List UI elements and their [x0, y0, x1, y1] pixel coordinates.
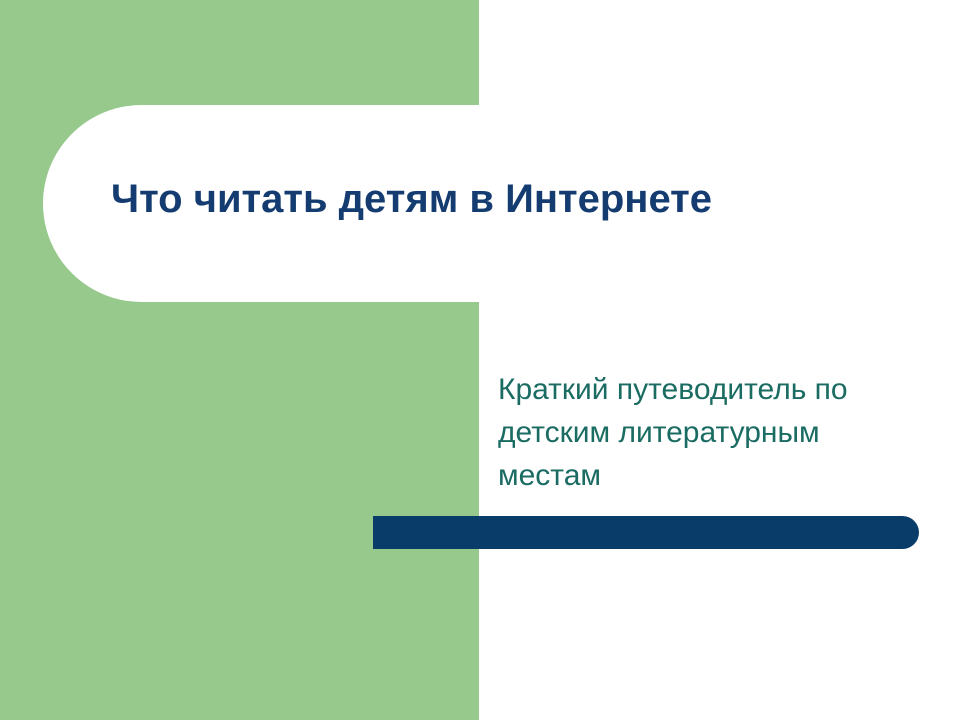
navy-accent-bar	[373, 516, 919, 549]
presentation-slide: Что читать детям в Интернете Краткий пут…	[0, 0, 960, 720]
slide-title: Что читать детям в Интернете	[111, 176, 871, 222]
slide-subtitle: Краткий путеводитель по детским литерату…	[498, 368, 928, 497]
